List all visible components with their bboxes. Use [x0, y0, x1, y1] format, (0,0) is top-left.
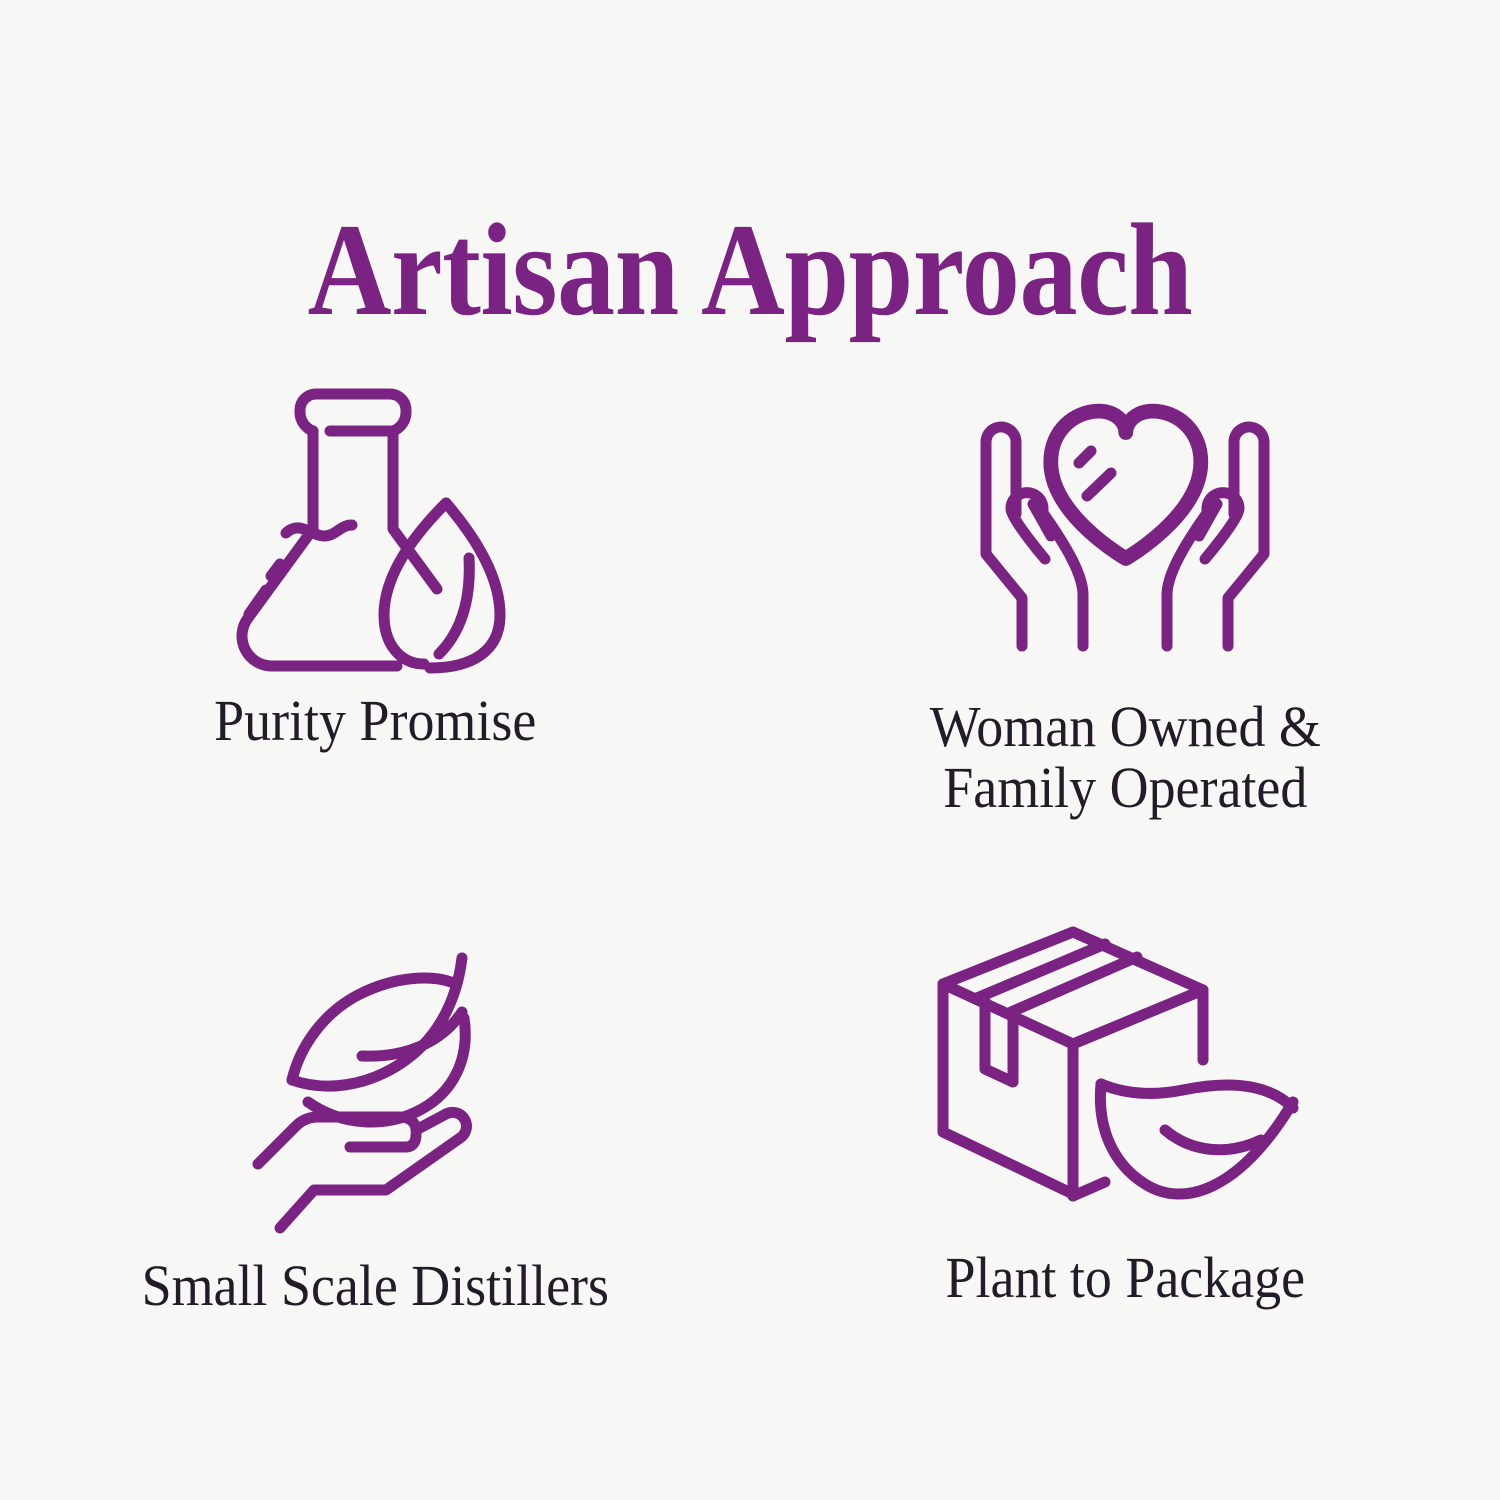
feature-label: Purity Promise	[214, 690, 536, 751]
feature-label-line1: Small Scale Distillers	[141, 1253, 608, 1318]
feature-grid: Purity Promise	[0, 352, 1500, 1402]
feature-label-line1: Purity Promise	[214, 688, 536, 753]
leaf-over-hand-icon	[225, 925, 525, 1225]
feature-label-line2: Family Operated	[929, 757, 1320, 818]
feature-item-woman-owned: Woman Owned & Family Operated	[750, 352, 1500, 877]
box-leaf-icon	[975, 917, 1275, 1217]
artisan-approach-graphic: Artisan Approach	[0, 0, 1500, 1500]
feature-item-purity-promise: Purity Promise	[0, 352, 750, 877]
feature-label: Woman Owned & Family Operated	[929, 696, 1320, 819]
feature-label: Small Scale Distillers	[141, 1255, 608, 1316]
hands-holding-heart-icon	[975, 374, 1275, 674]
feature-label-line1: Plant to Package	[945, 1245, 1305, 1310]
page-title: Artisan Approach	[90, 200, 1410, 340]
feature-item-plant-to-package: Plant to Package	[750, 877, 1500, 1402]
flask-leaf-icon	[225, 368, 525, 668]
feature-item-small-scale-distillers: Small Scale Distillers	[0, 877, 750, 1402]
feature-label: Plant to Package	[945, 1247, 1305, 1308]
feature-label-line1: Woman Owned &	[929, 694, 1320, 759]
